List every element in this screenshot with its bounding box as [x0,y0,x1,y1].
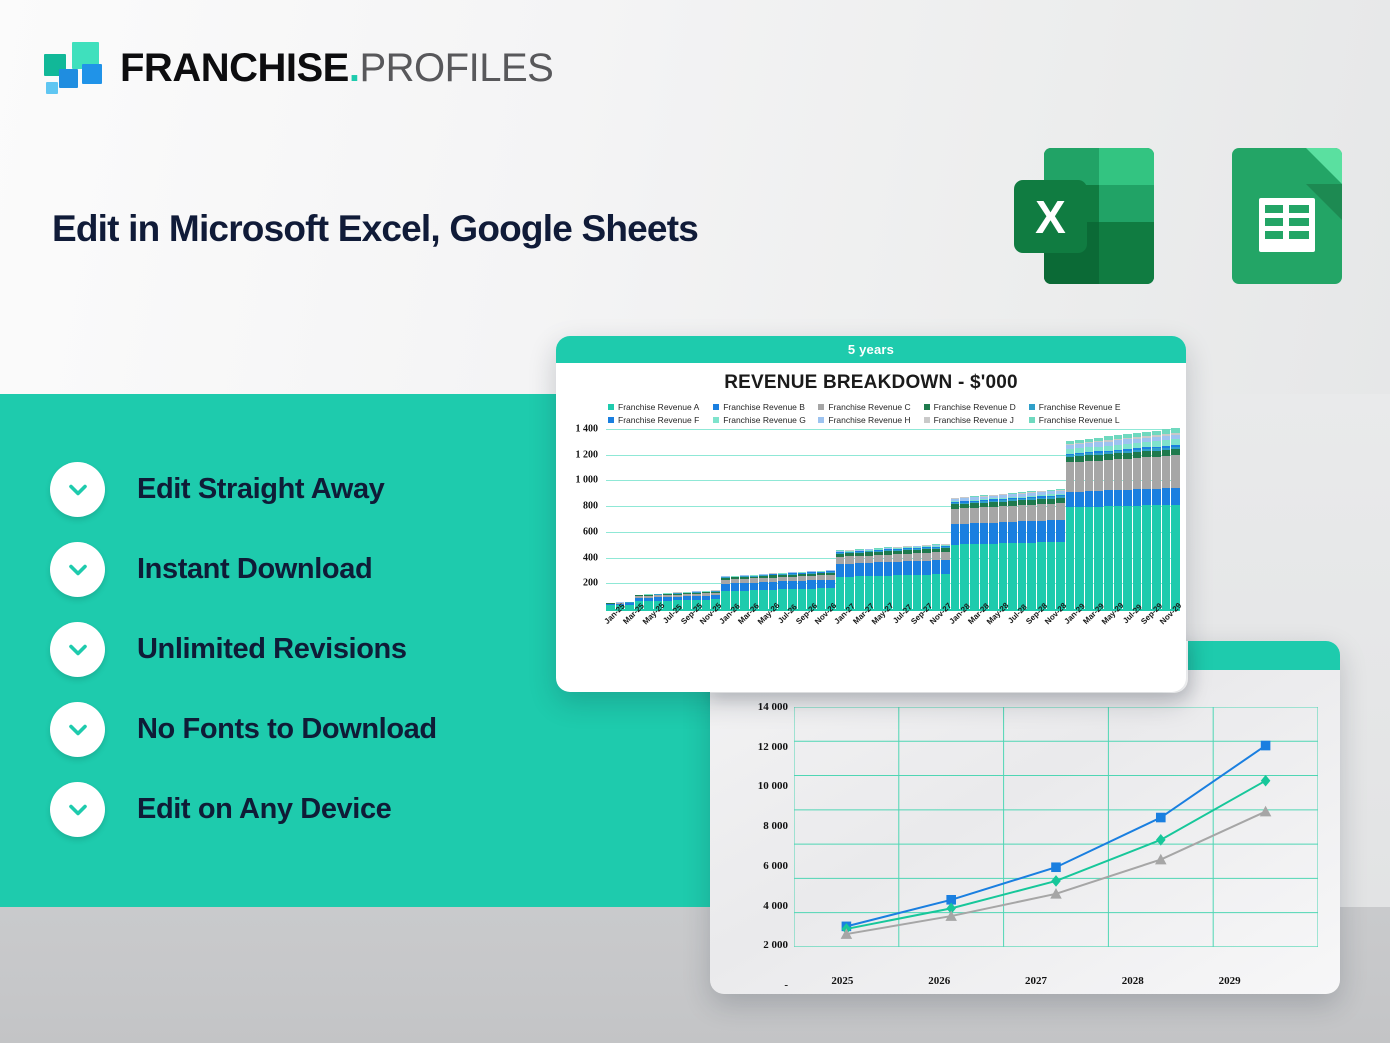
brand-name-bold: FRANCHISE [120,46,349,90]
bar-column [1008,493,1017,609]
bar-segment [989,507,998,523]
bar-segment [740,591,749,610]
bar-column [1171,428,1180,609]
bar-column [1037,491,1046,609]
bar-segment [960,524,969,545]
legend-label: Franchise Revenue H [828,415,910,425]
gross-margin-chart-card[interactable]: ber 2029 oss Margin -2 0004 0006 0008 00… [710,641,1340,994]
bar-segment [1008,506,1017,522]
bar-segment [951,545,960,609]
data-point-marker [1156,813,1166,823]
bar-segment [807,580,816,588]
bar-segment [750,583,759,591]
x-axis-tick: Jul-26 [778,610,787,644]
legend-swatch-icon [713,404,719,410]
x-axis-tick [903,610,912,644]
x-axis-tick [922,610,931,644]
bar-chart-x-axis: Jan-25Mar-25May-25Jul-25Sep-25Nov-25Jan-… [606,610,1180,644]
bar-segment [922,561,931,575]
bar-segment [788,581,797,589]
x-axis-tick: Jul-28 [1008,610,1017,644]
bar-segment [1066,462,1075,492]
line-series [846,781,1265,929]
x-axis-tick [1056,610,1065,644]
x-axis-tick: Nov-27 [932,610,941,644]
bar-column [951,498,960,609]
bar-segment [893,554,902,561]
legend-label: Franchise Revenue C [828,402,910,412]
bar-column [941,544,950,609]
data-point-marker [1260,806,1272,817]
bar-segment [999,522,1008,543]
x-axis-tick [616,610,625,644]
y-axis-tick: - [732,979,788,991]
bar-column [913,546,922,609]
bar-segment [1018,543,1027,609]
y-axis-tick: 400 [583,552,598,563]
x-axis-tick: Nov-26 [817,610,826,644]
legend-item: Franchise Revenue L [1029,415,1134,425]
bar-segment [1162,488,1171,505]
x-axis-tick: Jan-26 [721,610,730,644]
bar-segment [1018,521,1027,542]
bar-segment [874,576,883,609]
bar-segment [1162,456,1171,488]
bar-segment [1037,504,1046,521]
bar-column [1018,492,1027,609]
bar-segment [893,575,902,609]
legend-label: Franchise Revenue A [618,402,699,412]
bar-segment [1133,506,1142,609]
x-axis-tick [1037,610,1046,644]
bar-segment [951,524,960,545]
legend-swatch-icon [924,417,930,423]
bar-column [845,550,854,609]
revenue-card-title: REVENUE BREAKDOWN - $'000 [556,372,1186,394]
bar-column [1085,439,1094,609]
bar-segment [1018,505,1027,521]
legend-swatch-icon [818,404,824,410]
bar-segment [855,563,864,576]
bar-segment [913,575,922,609]
bar-segment [836,557,845,564]
app-icons-group: X [1014,148,1342,284]
bar-segment [970,508,979,524]
bar-column [970,496,979,609]
bar-segment [932,574,941,609]
bar-column [1162,429,1171,609]
line-chart-plot: -2 0004 0006 0008 00010 00012 00014 000 … [732,707,1318,985]
x-axis-tick: Nov-29 [1162,610,1171,644]
bar-segment [1123,459,1132,490]
y-axis-tick: 1 000 [576,475,599,486]
bar-segment [999,506,1008,522]
bar-segment [1056,503,1065,520]
bar-segment [951,509,960,524]
bar-column [759,574,768,609]
x-axis-tick [826,610,835,644]
bar-segment [1114,490,1123,506]
x-axis-label: 2028 [1122,975,1144,987]
bar-column [1066,441,1075,609]
bar-segment [903,554,912,562]
bar-segment [884,562,893,576]
legend-item: Franchise Revenue A [608,402,713,412]
x-axis-tick [1094,610,1103,644]
legend-label: Franchise Revenue E [1039,402,1121,412]
bar-segment [1027,505,1036,521]
revenue-breakdown-chart-card[interactable]: 5 years REVENUE BREAKDOWN - $'000 Franch… [556,336,1186,692]
bar-segment [1085,461,1094,491]
bar-segment [1104,506,1113,609]
bar-column [999,494,1008,609]
bar-column [817,571,826,610]
bar-segment [731,583,740,591]
bar-column [989,495,998,609]
bar-column [865,549,874,609]
bar-column [922,545,931,609]
bar-column [836,550,845,609]
x-axis-tick [769,610,778,644]
x-axis-tick [750,610,759,644]
bar-column [855,549,864,609]
bar-segment [1094,491,1103,507]
bar-column [932,544,941,609]
bar-segment [960,508,969,524]
bar-segment [1085,507,1094,609]
bar-segment [1075,492,1084,508]
y-axis-tick: 2 000 [732,939,788,951]
bar-column [1133,433,1142,609]
x-axis-tick: Sep-28 [1027,610,1036,644]
bar-segment [1085,491,1094,507]
x-axis-tick [654,610,663,644]
bar-segment [960,544,969,609]
page-headline: Edit in Microsoft Excel, Google Sheets [52,208,698,250]
chevron-down-icon [50,542,105,597]
bar-segment [980,523,989,544]
data-point-marker [1155,854,1167,865]
microsoft-excel-icon: X [1014,148,1154,284]
x-axis-tick [960,610,969,644]
bar-segment [1114,506,1123,609]
x-axis-tick [711,610,720,644]
bar-segment [1008,543,1017,609]
y-axis-tick: 14 000 [732,701,788,713]
bar-segment [874,555,883,562]
x-axis-tick [788,610,797,644]
feature-item-1[interactable]: Instant Download [50,542,437,597]
bar-segment [1152,489,1161,506]
y-axis-tick: 12 000 [732,741,788,753]
legend-label: Franchise Revenue F [618,415,699,425]
bar-segment [1047,542,1056,609]
bar-segment [1094,507,1103,609]
bar-segment [1114,459,1123,490]
x-axis-tick: Jan-27 [836,610,845,644]
x-axis-tick: Sep-29 [1142,610,1151,644]
x-axis-tick: Sep-27 [913,610,922,644]
bar-segment [1171,455,1180,487]
legend-label: Franchise Revenue D [934,402,1016,412]
legend-item: Franchise Revenue C [818,402,923,412]
y-axis-tick: 600 [583,526,598,537]
bar-segment [826,580,835,589]
legend-label: Franchise Revenue G [723,415,806,425]
x-axis-tick [1171,610,1180,644]
bar-column [1142,432,1151,609]
bar-chart-bars [606,429,1180,609]
legend-swatch-icon [608,417,614,423]
bar-column [1104,436,1113,609]
data-point-marker [1051,875,1061,887]
feature-item-0[interactable]: Edit Straight Away [50,462,437,517]
bar-segment [1056,520,1065,542]
brand-logo[interactable]: FRANCHISE.PROFILES [44,42,553,94]
feature-list: Edit Straight Away Instant Download Unli… [50,462,437,837]
revenue-chart-legend: Franchise Revenue AFranchise Revenue BFr… [556,394,1186,425]
x-axis-label: 2025 [831,975,853,987]
bar-segment [1142,489,1151,505]
chevron-down-icon [50,782,105,837]
legend-item: Franchise Revenue F [608,415,713,425]
bar-segment [1142,505,1151,609]
legend-swatch-icon [608,404,614,410]
bar-segment [1047,520,1056,542]
x-axis-tick: Jan-29 [1066,610,1075,644]
x-axis-tick: May-26 [759,610,768,644]
y-axis-tick: 800 [583,501,598,512]
bar-segment [970,523,979,544]
bar-column [1047,490,1056,609]
x-axis-tick [1075,610,1084,644]
data-point-marker [1261,741,1271,751]
x-axis-tick: Sep-26 [798,610,807,644]
bar-segment [884,555,893,562]
bar-segment [855,576,864,609]
bar-segment [874,562,883,575]
legend-item: Franchise Revenue J [924,415,1029,425]
bar-segment [941,552,950,560]
x-axis-tick: May-25 [644,610,653,644]
x-axis-tick: Jul-25 [663,610,672,644]
bar-segment [1123,506,1132,609]
x-axis-label: 2029 [1219,975,1241,987]
x-axis-tick: Nov-25 [702,610,711,644]
feature-item-2[interactable]: Unlimited Revisions [50,622,437,677]
x-axis-tick: Mar-25 [625,610,634,644]
bar-segment [922,553,931,561]
x-axis-label: 2027 [1025,975,1047,987]
bar-segment [1142,457,1151,489]
bar-segment [913,561,922,575]
bar-chart-y-axis: 2004006008001 0001 2001 400 [556,429,602,609]
bar-segment [798,589,807,609]
x-axis-tick: Mar-27 [855,610,864,644]
bar-segment [836,564,845,577]
x-axis-label: 2026 [928,975,950,987]
feature-label: Unlimited Revisions [137,633,407,666]
feature-label: Edit Straight Away [137,473,384,506]
bar-column [1114,435,1123,609]
x-axis-tick [635,610,644,644]
bar-column [778,573,787,609]
y-axis-tick: 10 000 [732,780,788,792]
bar-segment [1123,490,1132,506]
line-chart-svg [794,707,1318,947]
y-axis-tick: 8 000 [732,820,788,832]
x-axis-tick: Sep-25 [683,610,692,644]
bar-segment [1152,457,1161,489]
bar-segment [817,580,826,588]
y-axis-tick: 6 000 [732,860,788,872]
x-axis-tick [1133,610,1142,644]
x-axis-tick: May-29 [1104,610,1113,644]
bar-column [798,572,807,609]
bar-column [874,548,883,609]
bar-column [1056,489,1065,609]
x-axis-tick [865,610,874,644]
x-axis-tick [1114,610,1123,644]
bar-column [1027,491,1036,609]
feature-label: No Fonts to Download [137,713,437,746]
bar-segment [999,543,1008,609]
feature-label: Instant Download [137,553,372,586]
bar-segment [989,523,998,544]
legend-item: Franchise Revenue B [713,402,818,412]
bar-segment [970,544,979,609]
x-axis-tick: Nov-28 [1047,610,1056,644]
chevron-down-icon [50,702,105,757]
bar-segment [778,581,787,589]
feature-item-4[interactable]: Edit on Any Device [50,782,437,837]
legend-label: Franchise Revenue J [934,415,1014,425]
chevron-down-icon [50,462,105,517]
bar-column [1075,440,1084,609]
bar-segment [941,560,950,574]
x-axis-tick [845,610,854,644]
x-axis-tick [807,610,816,644]
bar-segment [980,507,989,523]
excel-x-glyph: X [1014,180,1087,253]
x-axis-tick: Jul-29 [1123,610,1132,644]
bar-segment [769,582,778,590]
legend-label: Franchise Revenue B [723,402,805,412]
y-axis-tick: 1 200 [576,449,599,460]
legend-item: Franchise Revenue H [818,415,923,425]
bar-column [1152,431,1161,610]
x-axis-tick: Jul-27 [893,610,902,644]
bar-segment [740,583,749,591]
bar-column [721,576,730,609]
bar-segment [1133,489,1142,505]
x-axis-tick: Mar-28 [970,610,979,644]
x-axis-tick: Mar-29 [1085,610,1094,644]
x-axis-tick [884,610,893,644]
x-axis-tick [731,610,740,644]
feature-item-3[interactable]: No Fonts to Download [50,702,437,757]
bar-segment [865,556,874,563]
bar-segment [1056,542,1065,609]
bar-segment [932,552,941,560]
bar-segment [865,563,874,576]
bar-segment [855,556,864,563]
bar-segment [1104,460,1113,491]
bar-column [893,547,902,609]
x-axis-tick [673,610,682,644]
y-axis-tick: 4 000 [732,900,788,912]
y-axis-tick: 1 400 [576,424,599,435]
bar-column [884,547,893,609]
chevron-down-icon [50,622,105,677]
bar-column [740,575,749,609]
brand-name-dot: . [349,46,360,90]
bar-segment [1047,504,1056,521]
revenue-card-banner: 5 years [556,336,1186,363]
google-sheets-icon [1232,148,1342,284]
legend-item: Franchise Revenue G [713,415,818,425]
bar-segment [1027,543,1036,609]
legend-swatch-icon [713,417,719,423]
brand-wordmark: FRANCHISE.PROFILES [120,48,553,88]
legend-swatch-icon [924,404,930,410]
bar-chart-plot: 2004006008001 0001 2001 400 Jan-25Mar-25… [556,429,1186,644]
bar-segment [1075,462,1084,492]
bar-segment [1037,542,1046,609]
data-point-marker [1261,775,1271,787]
bar-segment [845,556,854,563]
x-axis-tick: May-27 [874,610,883,644]
bar-segment [893,562,902,576]
bar-segment [1152,505,1161,609]
x-axis-tick [1018,610,1027,644]
bar-segment [932,560,941,574]
x-axis-tick [692,610,701,644]
brand-name-light: PROFILES [359,46,553,90]
line-series [846,746,1265,927]
bar-column [1123,434,1132,609]
bar-segment [989,544,998,609]
bar-segment [759,582,768,590]
bar-segment [836,577,845,609]
legend-swatch-icon [1029,417,1035,423]
feature-label: Edit on Any Device [137,793,391,826]
bar-segment [903,561,912,575]
x-axis-tick [999,610,1008,644]
bar-column [683,592,692,609]
x-axis-tick: Mar-26 [740,610,749,644]
bar-segment [1066,507,1075,609]
bar-segment [1171,505,1180,609]
squares-logo-icon [44,42,102,94]
bar-segment [1066,492,1075,507]
bar-segment [1094,461,1103,491]
x-axis-tick: May-28 [989,610,998,644]
bar-segment [721,584,730,591]
x-axis-tick [980,610,989,644]
legend-item: Franchise Revenue E [1029,402,1134,412]
legend-label: Franchise Revenue L [1039,415,1120,425]
bar-column [1094,438,1103,609]
data-point-marker [1051,862,1061,872]
bar-segment [1104,490,1113,506]
bar-column [960,497,969,609]
x-axis-tick: Jan-25 [606,610,615,644]
bar-segment [1037,521,1046,543]
bar-segment [1008,522,1017,543]
legend-swatch-icon [1029,404,1035,410]
bar-segment [1133,458,1142,489]
